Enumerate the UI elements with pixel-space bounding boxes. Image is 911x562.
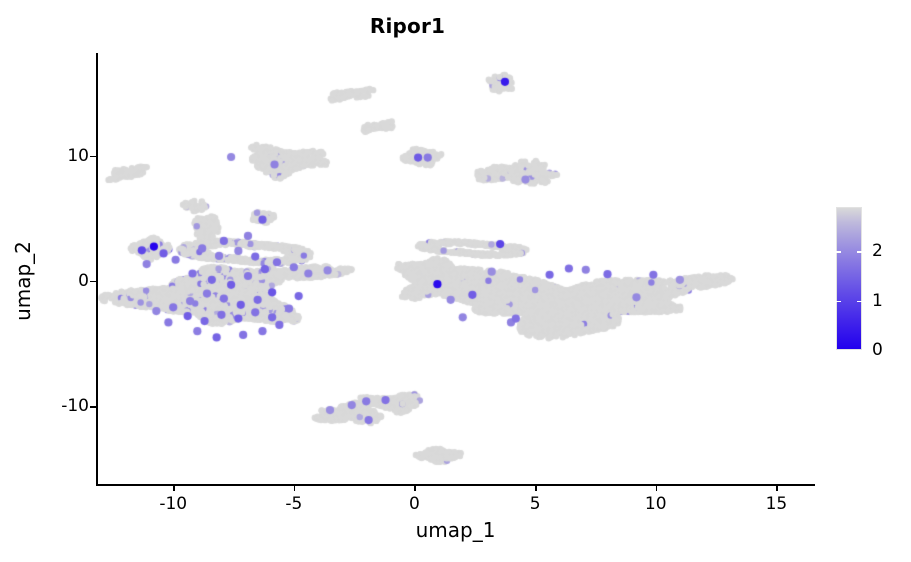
x-tick-label: 5: [530, 494, 541, 514]
x-tick-label: -5: [285, 494, 302, 514]
colorbar-tick-mark: [836, 251, 841, 252]
colorbar-tick-label: 0: [872, 340, 883, 360]
y-tick-label: -10: [61, 396, 89, 416]
x-tick-label: 10: [645, 494, 667, 514]
x-axis-label: umap_1: [96, 518, 815, 542]
y-axis-label: umap_2: [11, 181, 35, 381]
y-tick-mark: [90, 281, 96, 282]
y-tick-mark: [90, 406, 96, 407]
x-tick-label: -10: [159, 494, 187, 514]
scatter-canvas: [0, 0, 911, 562]
colorbar-tick-mark: [836, 350, 841, 351]
colorbar-tick-mark: [857, 350, 862, 351]
y-tick-mark: [90, 156, 96, 157]
x-tick-mark: [414, 485, 415, 491]
x-tick-label: 0: [409, 494, 420, 514]
x-tick-mark: [776, 485, 777, 491]
x-tick-label: 15: [766, 494, 788, 514]
colorbar-tick-mark: [836, 301, 841, 302]
umap-feature-plot: Ripor1 -10-5051015-10010 umap_1 umap_2 0…: [0, 0, 911, 562]
plot-area: [0, 0, 911, 562]
x-axis-spine: [96, 484, 815, 486]
x-tick-mark: [656, 485, 657, 491]
x-tick-mark: [535, 485, 536, 491]
y-axis-spine: [96, 53, 98, 485]
y-tick-label: 10: [67, 146, 89, 166]
colorbar-tick-label: 1: [872, 291, 883, 311]
x-tick-mark: [294, 485, 295, 491]
colorbar-tick-mark: [857, 251, 862, 252]
colorbar-gradient: [836, 207, 862, 350]
colorbar-tick-label: 2: [872, 241, 883, 261]
colorbar-tick-mark: [857, 301, 862, 302]
y-tick-label: 0: [78, 271, 89, 291]
x-tick-mark: [173, 485, 174, 491]
